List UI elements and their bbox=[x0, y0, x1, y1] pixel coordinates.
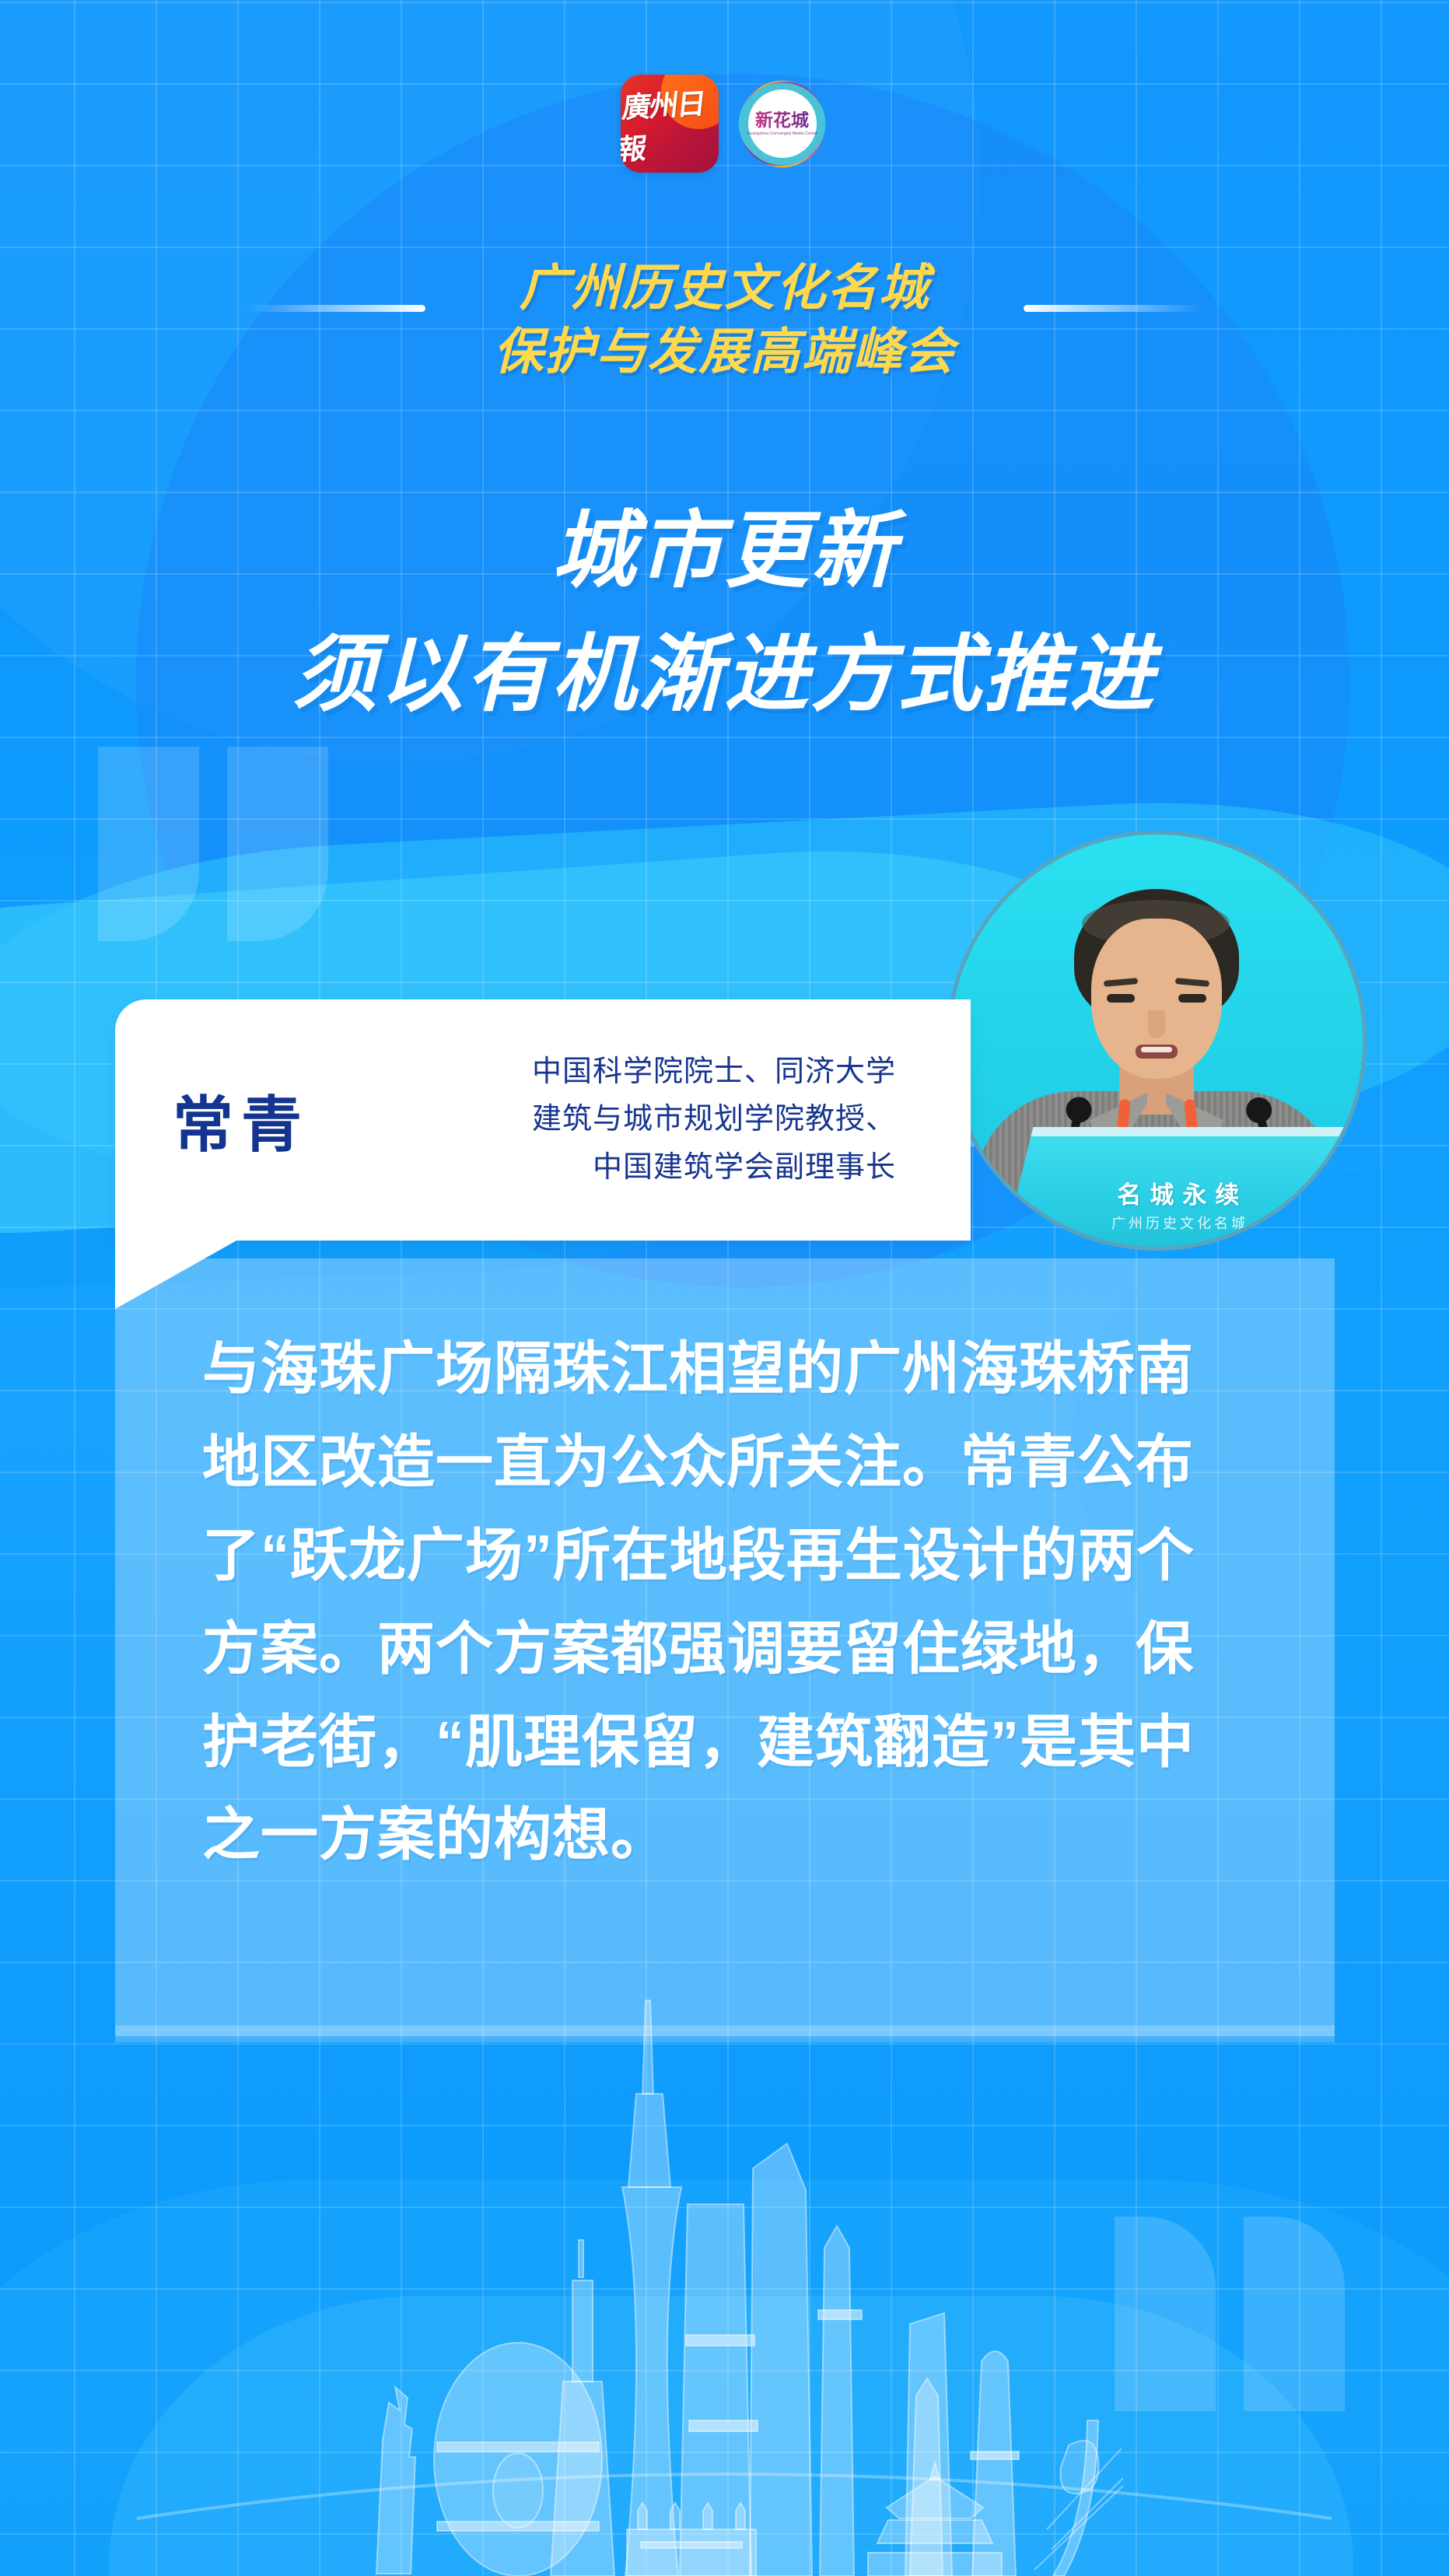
event-subtitle-line-1: 广州历史文化名城 bbox=[0, 257, 1449, 320]
portrait-mouth bbox=[1136, 1045, 1178, 1059]
headline-line-2: 须以有机渐进方式推进 bbox=[0, 621, 1449, 726]
headline-line-1: 城市更新 bbox=[0, 498, 1449, 603]
podium-top-edge bbox=[1001, 1127, 1359, 1136]
podium: 名城永续 广州历史文化名城 bbox=[1001, 1127, 1359, 1251]
guangzhou-daily-logo-text: 廣州日報 bbox=[621, 75, 719, 173]
podium-slogan-secondary: 广州历史文化名城 bbox=[1111, 1213, 1248, 1233]
xinhuacheng-logo-core: 新花城 Guangzhou Converged Media Center bbox=[748, 89, 817, 158]
poster-root: 廣州日報 新花城 Guangzhou Converged Media Cente… bbox=[0, 0, 1449, 2576]
event-subtitle: 广州历史文化名城 保护与发展高端峰会 bbox=[0, 257, 1449, 384]
portrait-eye-left bbox=[1107, 994, 1135, 1003]
speaker-title-line-1: 中国科学院院士、同济大学 bbox=[353, 1048, 896, 1097]
guangzhou-skyline bbox=[0, 1985, 1449, 2576]
portrait-nose bbox=[1148, 1010, 1165, 1038]
xinhuacheng-logo[interactable]: 新花城 Guangzhou Converged Media Center bbox=[736, 77, 829, 170]
body-paragraph: 与海珠广场隔珠江相望的广州海珠桥南地区改造一直为公众所关注。常青公布了“跃龙广场… bbox=[115, 1322, 1335, 1881]
xinhuacheng-logo-subtitle: Guangzhou Converged Media Center bbox=[747, 131, 818, 136]
speaker-portrait: 名城永续 广州历史文化名城 bbox=[947, 831, 1367, 1251]
brand-logos: 廣州日報 新花城 Guangzhou Converged Media Cente… bbox=[0, 75, 1449, 173]
headline: 城市更新 须以有机渐进方式推进 bbox=[0, 498, 1449, 726]
event-subtitle-block: 广州历史文化名城 保护与发展高端峰会 bbox=[0, 257, 1449, 384]
event-subtitle-line-2: 保护与发展高端峰会 bbox=[0, 320, 1449, 384]
subtitle-rule-right bbox=[1024, 305, 1202, 312]
guangzhou-daily-logo[interactable]: 廣州日報 bbox=[621, 75, 719, 173]
podium-slogan-primary: 名城永续 bbox=[1117, 1175, 1248, 1210]
speaker-card: 常青 中国科学院院士、同济大学 建筑与城市规划学院教授、 中国建筑学会副理事长 bbox=[115, 999, 971, 1241]
subtitle-rule-left bbox=[247, 305, 425, 312]
xinhuacheng-logo-text: 新花城 bbox=[755, 111, 809, 129]
speaker-name: 常青 bbox=[173, 1076, 310, 1164]
speaker-title-line-2: 建筑与城市规划学院教授、 bbox=[353, 1096, 896, 1144]
speaker-titles: 中国科学院院士、同济大学 建筑与城市规划学院教授、 中国建筑学会副理事长 bbox=[353, 1048, 971, 1192]
speaker-title-line-3: 中国建筑学会副理事长 bbox=[353, 1144, 896, 1192]
quote-open-icon bbox=[75, 747, 331, 980]
portrait-eye-right bbox=[1178, 994, 1206, 1003]
